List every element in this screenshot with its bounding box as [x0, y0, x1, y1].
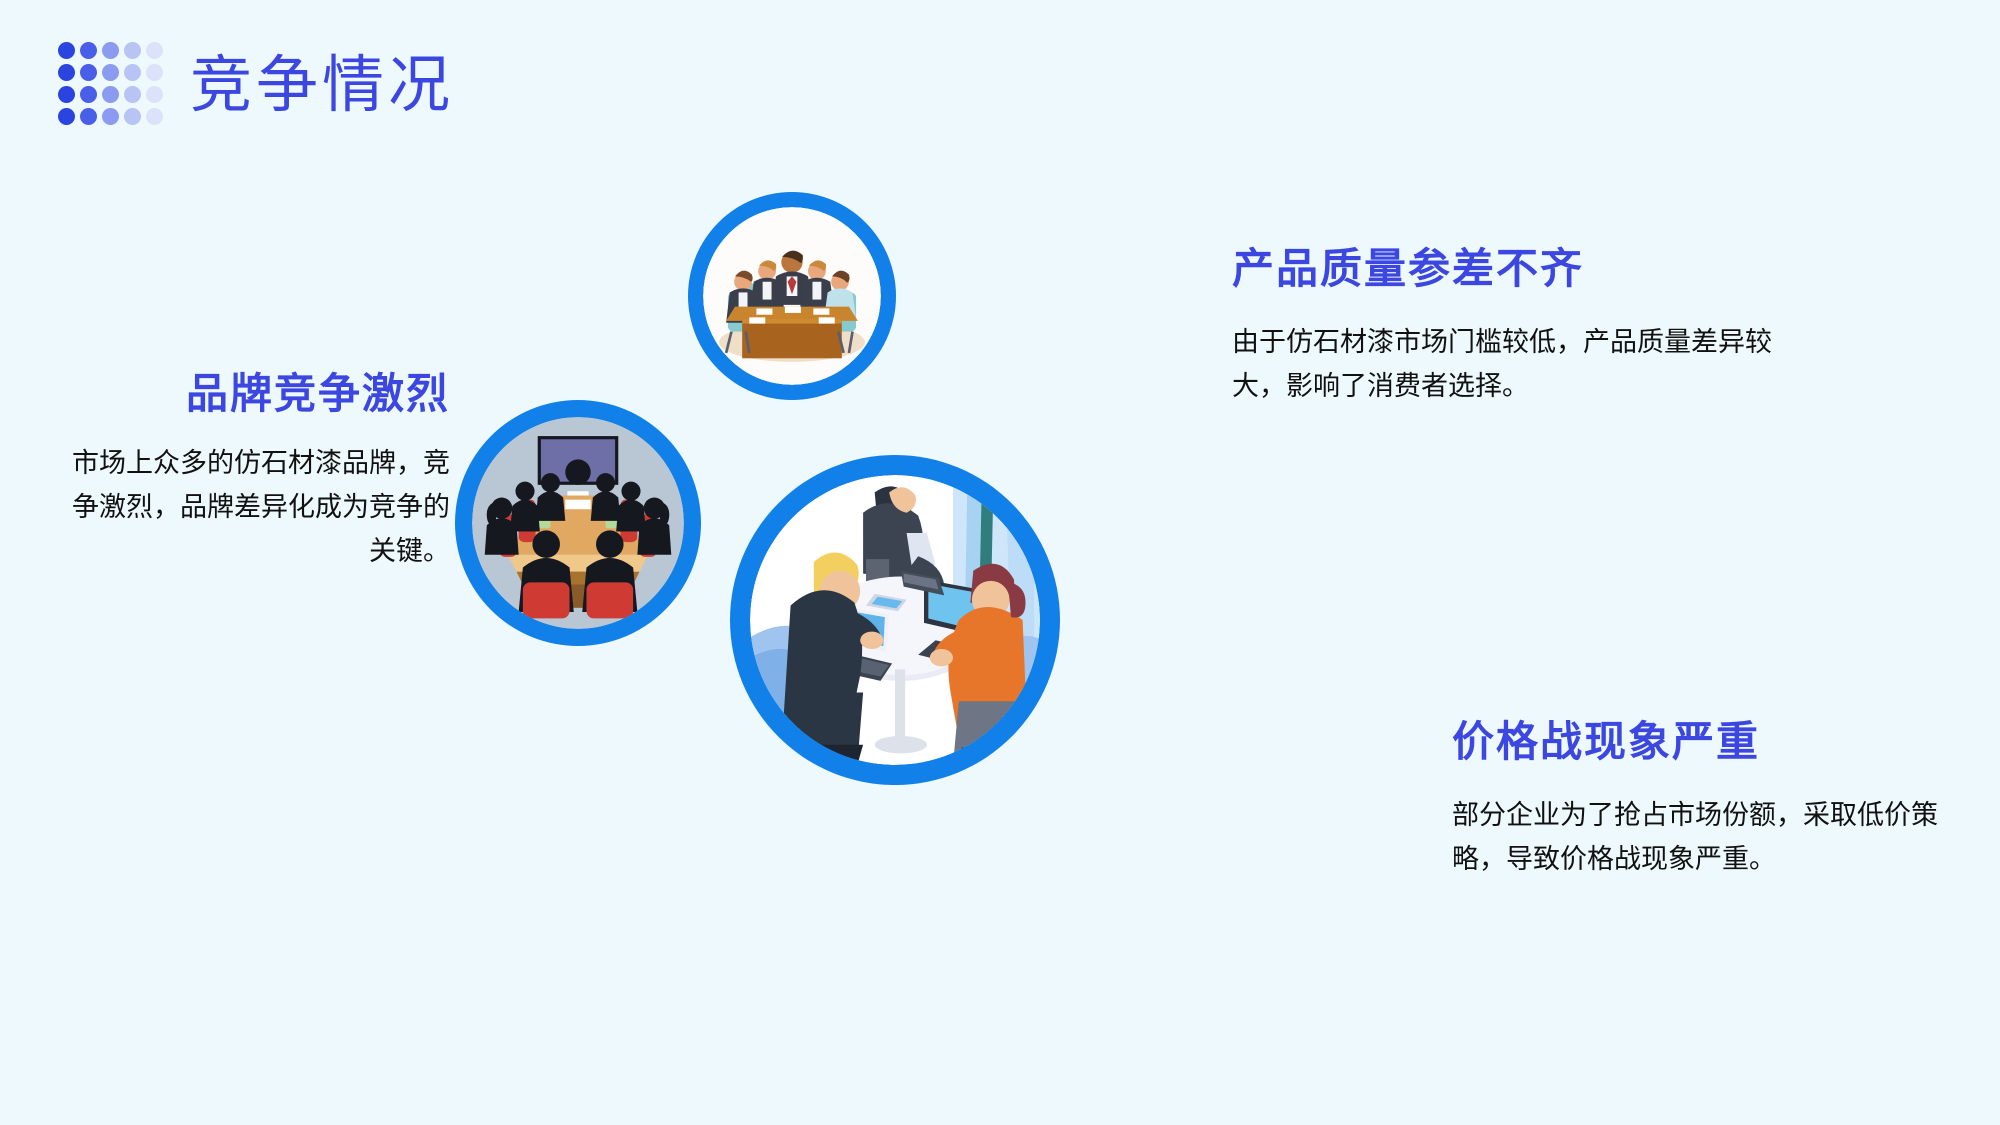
conference-presentation-illustration: [472, 417, 684, 629]
slide-header: 竞争情况: [0, 0, 2000, 170]
circle-meeting-table-inner: [703, 207, 881, 385]
circle-conference-room: [455, 400, 701, 646]
dot-grid-dot: [58, 64, 75, 81]
dot-grid-dot: [102, 64, 119, 81]
dot-grid-dot: [80, 64, 97, 81]
circle-conference-room-inner: [472, 417, 684, 629]
heading-brand-competition: 品牌竞争激烈: [60, 370, 450, 420]
dot-grid-dot: [58, 42, 75, 59]
body-product-quality: 由于仿石材漆市场门槛较低，产品质量差异较大，影响了消费者选择。: [1232, 321, 1792, 408]
text-block-brand-competition: 品牌竞争激烈 市场上众多的仿石材漆品牌，竞争激烈，品牌差异化成为竞争的关键。: [60, 370, 450, 574]
page-title: 竞争情况: [190, 34, 454, 124]
dot-grid-dot: [146, 64, 163, 81]
dot-grid-dot: [58, 108, 75, 125]
office-teamwork-illustration: [750, 475, 1040, 765]
slide-canvas: 竞争情况: [0, 0, 2000, 1125]
dot-grid-dot: [146, 86, 163, 103]
dot-grid-dot: [124, 64, 141, 81]
dot-grid-dot: [102, 86, 119, 103]
dot-grid-dot: [80, 42, 97, 59]
text-block-price-war: 价格战现象严重 部分企业为了抢占市场份额，采取低价策略，导致价格战现象严重。: [1452, 718, 1972, 882]
dot-grid-dot: [58, 86, 75, 103]
heading-product-quality: 产品质量参差不齐: [1232, 245, 1792, 295]
dot-grid-dot: [80, 86, 97, 103]
circle-office-desk: [730, 455, 1060, 785]
body-price-war: 部分企业为了抢占市场份额，采取低价策略，导致价格战现象严重。: [1452, 794, 1972, 881]
circle-meeting-table: [688, 192, 896, 400]
business-meeting-illustration: [703, 207, 881, 385]
heading-price-war: 价格战现象严重: [1452, 718, 1972, 768]
circle-office-desk-inner: [750, 475, 1040, 765]
text-block-product-quality: 产品质量参差不齐 由于仿石材漆市场门槛较低，产品质量差异较大，影响了消费者选择。: [1232, 245, 1792, 409]
dot-grid-dot: [102, 42, 119, 59]
dot-grid-dot: [102, 108, 119, 125]
dot-grid-decoration: [58, 42, 168, 130]
dot-grid-dot: [146, 108, 163, 125]
dot-grid-dot: [80, 108, 97, 125]
dot-grid-dot: [124, 42, 141, 59]
dot-grid-dot: [124, 108, 141, 125]
dot-grid-dot: [146, 42, 163, 59]
dot-grid-dot: [124, 86, 141, 103]
body-brand-competition: 市场上众多的仿石材漆品牌，竞争激烈，品牌差异化成为竞争的关键。: [60, 442, 450, 573]
